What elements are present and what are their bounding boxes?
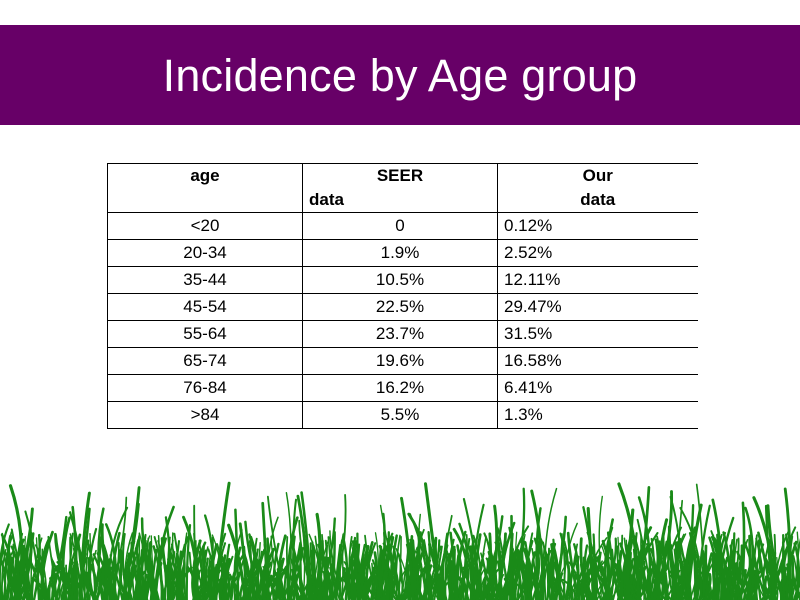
table-row: <20 0 0.12% <box>108 213 698 240</box>
cell-our: 1.3% <box>498 402 698 429</box>
cell-age: 55-64 <box>108 321 303 348</box>
cell-age: 35-44 <box>108 267 303 294</box>
column-header-age-label: age <box>114 164 296 188</box>
cell-age: >84 <box>108 402 303 429</box>
cell-age: 45-54 <box>108 294 303 321</box>
page-title: Incidence by Age group <box>163 53 638 98</box>
column-header-age: age <box>108 164 303 213</box>
table-header-row: age SEER data Our data <box>108 164 698 213</box>
column-header-our-line1: Our <box>504 164 692 188</box>
cell-seer: 23.7% <box>303 321 498 348</box>
cell-seer: 16.2% <box>303 375 498 402</box>
cell-age: <20 <box>108 213 303 240</box>
column-header-seer-line2: data <box>309 188 491 212</box>
cell-our: 2.52% <box>498 240 698 267</box>
table-header: age SEER data Our data <box>108 164 698 213</box>
cell-our: 29.47% <box>498 294 698 321</box>
table-row: 45-54 22.5% 29.47% <box>108 294 698 321</box>
cell-our: 31.5% <box>498 321 698 348</box>
cell-age: 76-84 <box>108 375 303 402</box>
cell-our: 16.58% <box>498 348 698 375</box>
column-header-seer-line1: SEER <box>309 164 491 188</box>
cell-our: 12.11% <box>498 267 698 294</box>
grass-icon <box>0 470 800 600</box>
cell-age: 65-74 <box>108 348 303 375</box>
cell-seer: 5.5% <box>303 402 498 429</box>
table-row: >84 5.5% 1.3% <box>108 402 698 429</box>
column-header-our-data: Our data <box>498 164 698 213</box>
column-header-our-line2: data <box>504 188 692 212</box>
grass-decoration-image <box>0 470 800 600</box>
table-row: 65-74 19.6% 16.58% <box>108 348 698 375</box>
table-row: 76-84 16.2% 6.41% <box>108 375 698 402</box>
table-row: 20-34 1.9% 2.52% <box>108 240 698 267</box>
cell-seer: 19.6% <box>303 348 498 375</box>
column-header-seer-stack: SEER data <box>309 164 491 212</box>
table-row: 35-44 10.5% 12.11% <box>108 267 698 294</box>
cell-seer: 0 <box>303 213 498 240</box>
table-body: <20 0 0.12% 20-34 1.9% 2.52% 35-44 10.5%… <box>108 213 698 429</box>
title-banner: Incidence by Age group <box>0 25 800 125</box>
cell-our: 0.12% <box>498 213 698 240</box>
incidence-table-container: age SEER data Our data <20 <box>107 163 697 429</box>
cell-seer: 1.9% <box>303 240 498 267</box>
incidence-by-age-table: age SEER data Our data <20 <box>107 163 698 429</box>
table-row: 55-64 23.7% 31.5% <box>108 321 698 348</box>
column-header-our-stack: Our data <box>504 164 692 212</box>
column-header-seer-data: SEER data <box>303 164 498 213</box>
cell-seer: 22.5% <box>303 294 498 321</box>
cell-age: 20-34 <box>108 240 303 267</box>
cell-seer: 10.5% <box>303 267 498 294</box>
cell-our: 6.41% <box>498 375 698 402</box>
